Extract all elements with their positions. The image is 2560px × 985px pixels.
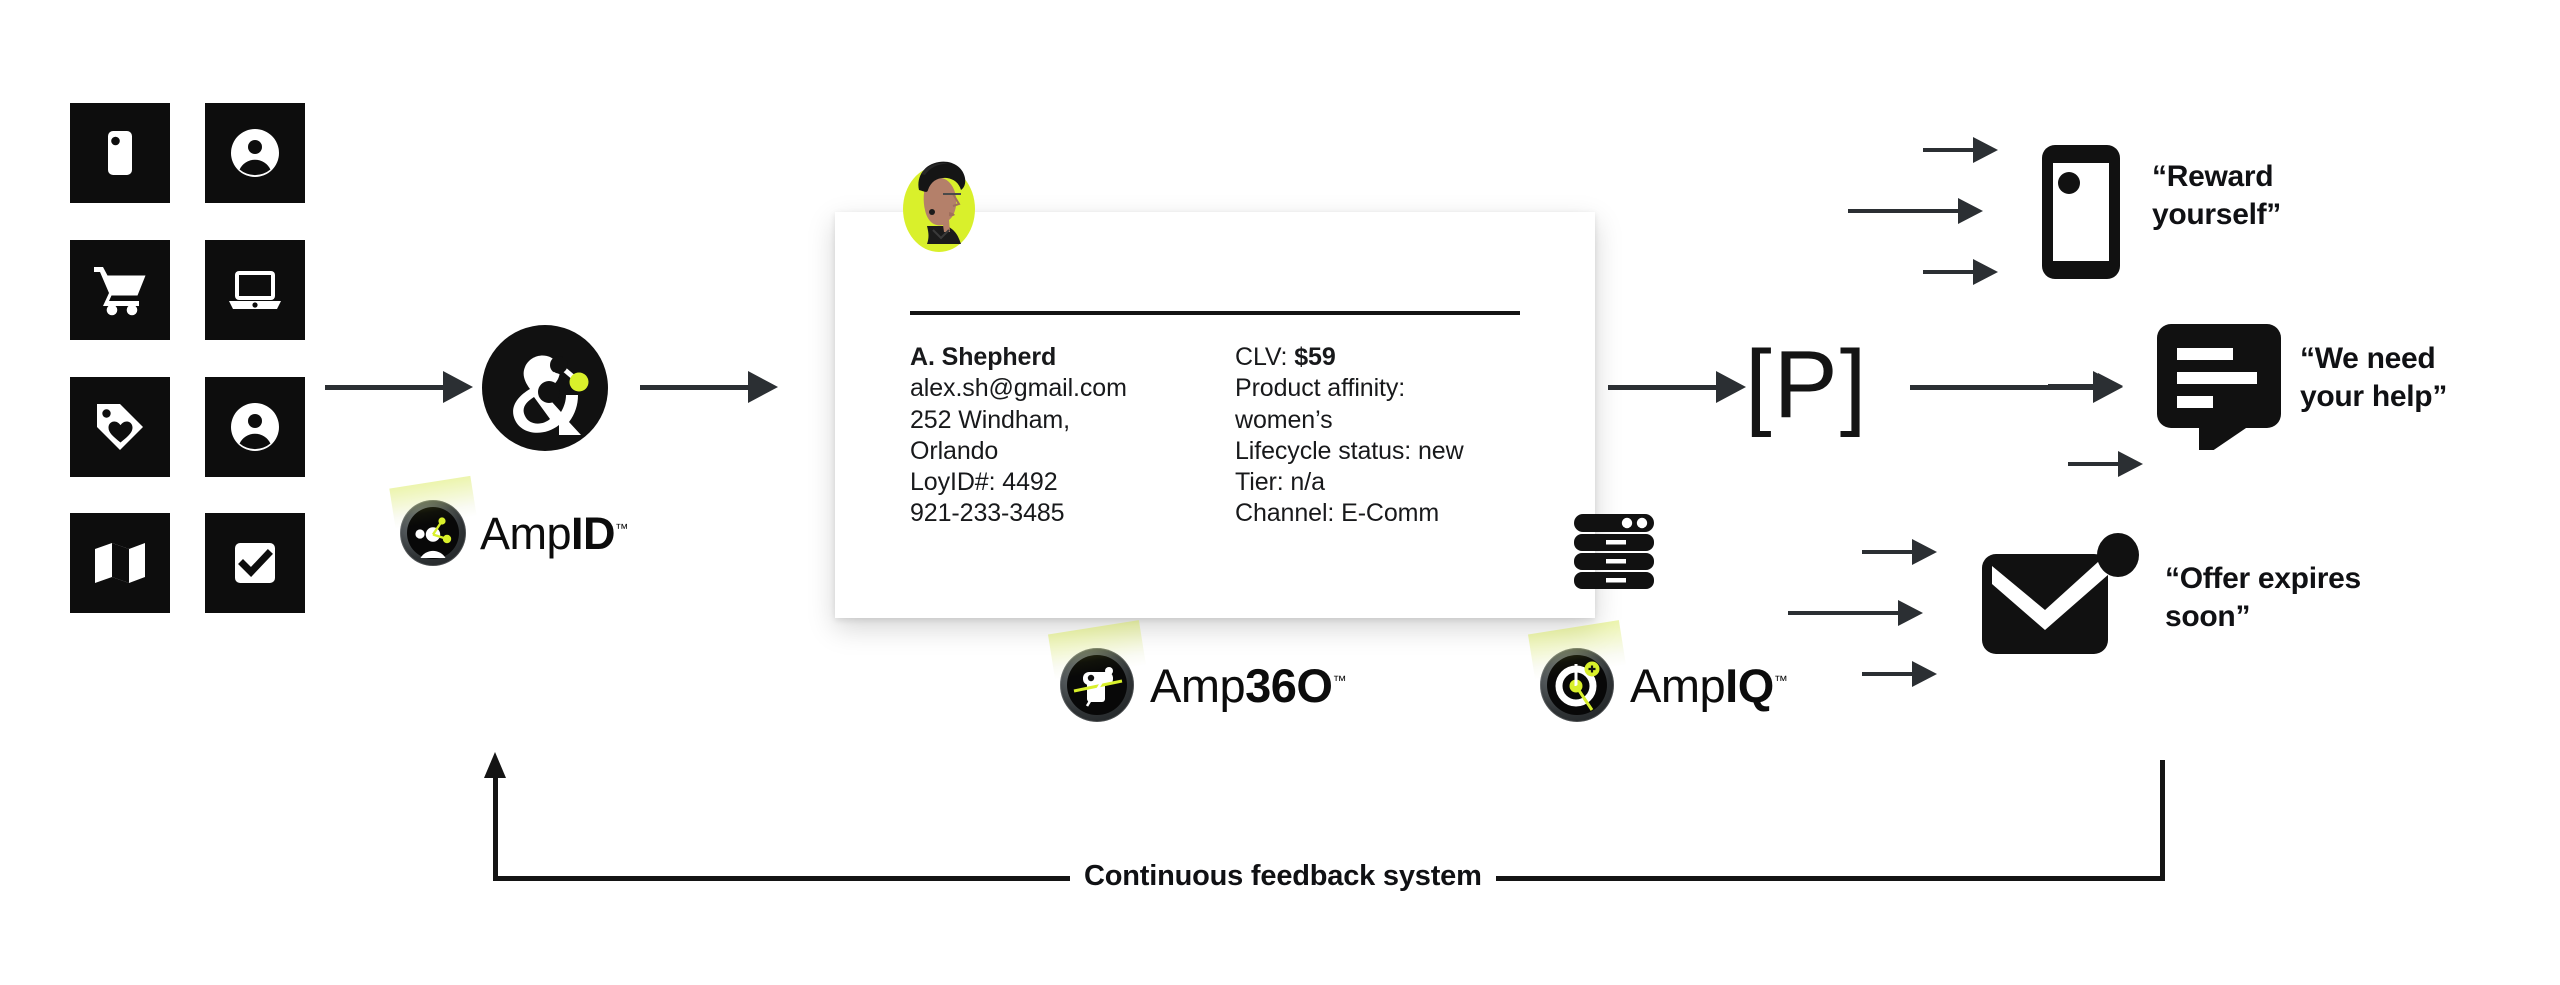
server-stack-icon[interactable]	[1570, 512, 1658, 601]
arrow-head-to-mobile-1	[1973, 137, 1998, 163]
feedback-loop-label: Continuous feedback system	[1070, 860, 1496, 893]
ampiq-word-light: Amp	[1630, 659, 1725, 712]
chat-bubble-icon[interactable]	[2153, 320, 2285, 455]
profile-left-column: A. Shepherd alex.sh@gmail.com 252 Windha…	[910, 342, 1240, 530]
arrow-head-profile-to-personalization	[1716, 371, 1746, 403]
feedback-loop-arrowhead	[484, 752, 506, 778]
customer-address-city: Orlando	[910, 436, 1240, 467]
output-label-offer: “Offer expires soon”	[2165, 560, 2361, 637]
clv-label: CLV:	[1235, 343, 1294, 371]
customer-name: A. Shepherd	[910, 342, 1240, 373]
email-envelope-icon[interactable]	[1978, 532, 2148, 663]
customer-channel: Channel: E-Comm	[1235, 498, 1565, 529]
source-tile-tag[interactable]	[70, 377, 170, 477]
card-divider-rule	[910, 311, 1520, 315]
source-tile-map[interactable]	[70, 513, 170, 613]
customer-tier: Tier: n/a	[1235, 467, 1565, 498]
customer-avatar	[897, 150, 981, 254]
arrow-head-to-mobile-2	[1958, 198, 1983, 224]
ampiq-orb-icon	[1540, 648, 1614, 722]
ampiq-lockup: AmpIQ™	[1540, 648, 1788, 722]
arrow-head-to-email-2	[1898, 600, 1923, 626]
arrow-head-ampid-to-profile	[748, 371, 778, 403]
loyalty-tag-heart-icon	[91, 398, 149, 456]
arrow-to-chat-1	[2048, 384, 2100, 388]
arrow-to-mobile-3	[1923, 270, 1975, 274]
ampiq-wordmark: AmpIQ™	[1630, 662, 1788, 709]
arrow-head-sources-to-ampid	[443, 371, 473, 403]
arrow-head-to-email-1	[1912, 539, 1937, 565]
ampiq-word-bold: IQ	[1725, 659, 1774, 712]
arrow-to-mobile-2	[1848, 209, 1960, 213]
arrow-head-to-chat-1	[2098, 373, 2123, 399]
clv-value: $59	[1294, 343, 1335, 371]
mobile-device-icon	[92, 125, 148, 181]
ampid-word-light: Amp	[480, 508, 571, 559]
source-tile-mobile[interactable]	[70, 103, 170, 203]
ampid-wordmark: AmpID™	[480, 511, 629, 556]
customer-loyalty-id: LoyID#: 4492	[910, 467, 1240, 498]
amp360-wordmark: Amp36O™	[1150, 662, 1347, 709]
diagram-canvas: AmpID™ A. Shepherd	[0, 0, 2560, 985]
shopping-cart-icon	[90, 262, 150, 318]
ampiq-trademark: ™	[1774, 672, 1788, 688]
output-label-help: “We need your help”	[2300, 340, 2447, 417]
profile-right-column: CLV: $59 Product affinity: women’s Lifec…	[1235, 342, 1565, 530]
map-location-icon	[91, 538, 149, 588]
checkbox-checked-icon	[229, 537, 281, 589]
ampid-trademark: ™	[615, 521, 629, 536]
arrow-head-to-email-3	[1912, 661, 1937, 687]
product-affinity-label: Product affinity:	[1235, 373, 1565, 404]
customer-address-line1: 252 Windham,	[910, 405, 1240, 436]
customer-phone: 921-233-3485	[910, 498, 1240, 529]
amp360-word-light: Amp	[1150, 659, 1245, 712]
amp360-word-bold: 36O	[1245, 659, 1332, 712]
amp360-trademark: ™	[1332, 672, 1346, 688]
arrow-to-email-1	[1862, 550, 1914, 554]
customer-email: alex.sh@gmail.com	[910, 373, 1240, 404]
output-label-reward: “Reward yourself”	[2152, 158, 2281, 235]
ampid-ampersand-mark[interactable]	[482, 325, 608, 451]
arrow-ampid-to-profile	[640, 385, 750, 390]
source-tile-checkbox[interactable]	[205, 513, 305, 613]
feedback-loop-right-riser	[2160, 760, 2165, 880]
source-tile-profile-1[interactable]	[205, 103, 305, 203]
customer-clv: CLV: $59	[1235, 342, 1565, 373]
arrow-head-to-mobile-3	[1973, 259, 1998, 285]
ampid-lockup: AmpID™	[400, 500, 629, 566]
arrow-to-chat-2	[2068, 462, 2120, 466]
user-profile-icon	[226, 398, 284, 456]
lifecycle-status: Lifecycle status: new	[1235, 436, 1565, 467]
source-tile-profile-2[interactable]	[205, 377, 305, 477]
arrow-to-email-2	[1788, 611, 1900, 615]
arrow-to-mobile-1	[1923, 148, 1975, 152]
amp360-lockup: Amp36O™	[1060, 648, 1347, 722]
amp360-orb-icon	[1060, 648, 1134, 722]
ampid-word-bold: ID	[571, 508, 615, 559]
arrow-head-to-chat-2	[2118, 451, 2143, 477]
arrow-profile-to-personalization	[1608, 385, 1718, 390]
product-affinity-value: women’s	[1235, 405, 1565, 436]
source-tile-cart[interactable]	[70, 240, 170, 340]
personalization-token: [P]	[1745, 337, 1868, 433]
arrow-sources-to-ampid	[325, 385, 445, 390]
source-tile-laptop[interactable]	[205, 240, 305, 340]
arrow-to-email-3	[1862, 672, 1914, 676]
user-profile-icon	[226, 124, 284, 182]
laptop-icon	[225, 267, 285, 313]
mobile-push-icon[interactable]	[2038, 141, 2124, 288]
feedback-loop-left-riser	[493, 775, 498, 880]
ampid-orb-icon	[400, 500, 466, 566]
